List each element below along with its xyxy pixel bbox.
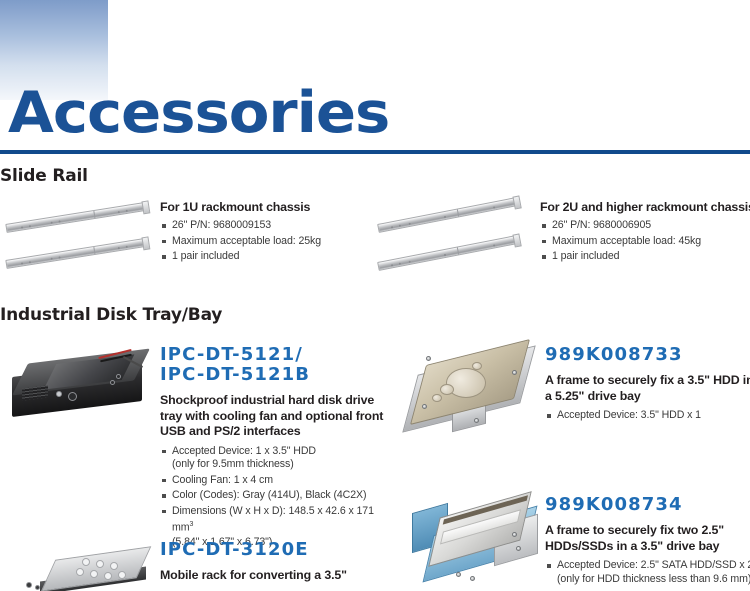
product-description: A frame to securely fix a 3.5" HDD in a … [545, 373, 750, 404]
section-heading-disk-tray: Industrial Disk Tray/Bay [0, 305, 222, 325]
slide-rail-2u-text-block: For 2U and higher rackmount chassis 26" … [540, 200, 750, 266]
slide-rail-1u-heading: For 1U rackmount chassis [160, 200, 375, 214]
accessories-catalog-page: Accessories Slide Rail Industrial Disk T… [0, 0, 750, 591]
slide-rail-2u-photo [378, 198, 528, 282]
slide-rail-1u-photo [6, 198, 152, 280]
989k008733-text-block: 989K008733 A frame to securely fix a 3.5… [545, 345, 750, 425]
product-code-line2: IPC-DT-5121B [160, 364, 310, 385]
slide-rail-1u-text-block: For 1U rackmount chassis 26" P/N: 968000… [160, 200, 375, 266]
ipc-dt-3120e-text-block: IPC-DT-3120E Mobile rack for converting … [160, 540, 385, 584]
989k008733-spec-list: Accepted Device: 3.5" HDD x 1 [545, 409, 750, 423]
product-code: IPC-DT-5121/ IPC-DT-5121B [160, 345, 385, 385]
spec-sub: (only for HDD thickness less than 9.6 mm… [557, 573, 750, 587]
product-description: Mobile rack for converting a 3.5" [160, 568, 385, 584]
989k008733-photo [406, 348, 546, 432]
989k008734-spec-list: Accepted Device: 2.5" SATA HDD/SSD x 2 (… [545, 559, 750, 586]
list-item: Accepted Device: 2.5" SATA HDD/SSD x 2 (… [545, 559, 750, 586]
spec-main: Accepted Device: 3.5" HDD x 1 [557, 409, 701, 421]
list-item: Accepted Device: 3.5" HDD x 1 [545, 409, 750, 423]
ipc-dt-5121-spec-list: Accepted Device: 1 x 3.5" HDD (only for … [160, 445, 385, 550]
product-description: Shockproof industrial hard disk drive tr… [160, 393, 385, 440]
product-description: A frame to securely fix two 2.5" HDDs/SS… [545, 523, 750, 554]
list-item: 1 pair included [540, 250, 750, 264]
list-item: 1 pair included [160, 250, 375, 264]
spec-main: Cooling Fan: 1 x 4 cm [172, 474, 273, 486]
product-code: 989K008734 [545, 495, 750, 515]
section-heading-slide-rail: Slide Rail [0, 166, 88, 186]
slide-rail-2u-heading: For 2U and higher rackmount chassis [540, 200, 750, 214]
page-title: Accessories [8, 85, 389, 142]
list-item: Cooling Fan: 1 x 4 cm [160, 474, 385, 488]
spec-main: Color (Codes): Gray (414U), Black (4C2X) [172, 489, 366, 501]
ipc-dt-3120e-photo [22, 552, 152, 591]
ipc-dt-5121-text-block: IPC-DT-5121/ IPC-DT-5121B Shockproof ind… [160, 345, 385, 551]
spec-superscript: 3 [189, 521, 193, 528]
list-item: Maximum acceptable load: 25kg [160, 235, 375, 249]
slide-rail-2u-spec-list: 26" P/N: 9680006905 Maximum acceptable l… [540, 219, 750, 264]
title-divider-rule [0, 150, 750, 154]
989k008734-photo [412, 498, 542, 588]
989k008734-text-block: 989K008734 A frame to securely fix two 2… [545, 495, 750, 588]
list-item: 26" P/N: 9680006905 [540, 219, 750, 233]
spec-sub: (only for 9.5mm thickness) [172, 458, 385, 472]
product-code-line1: IPC-DT-5121/ [160, 344, 303, 365]
spec-main: Accepted Device: 2.5" SATA HDD/SSD x 2 [557, 559, 750, 571]
list-item: Color (Codes): Gray (414U), Black (4C2X) [160, 489, 385, 503]
spec-main: Accepted Device: 1 x 3.5" HDD [172, 445, 316, 457]
ipc-dt-5121-photo [6, 347, 154, 419]
product-code: IPC-DT-3120E [160, 540, 385, 560]
list-item: 26" P/N: 9680009153 [160, 219, 375, 233]
product-code: 989K008733 [545, 345, 750, 365]
list-item: Maximum acceptable load: 45kg [540, 235, 750, 249]
list-item: Accepted Device: 1 x 3.5" HDD (only for … [160, 445, 385, 472]
spec-main: Dimensions (W x H x D): 148.5 x 42.6 x 1… [172, 505, 374, 534]
slide-rail-1u-spec-list: 26" P/N: 9680009153 Maximum acceptable l… [160, 219, 375, 264]
